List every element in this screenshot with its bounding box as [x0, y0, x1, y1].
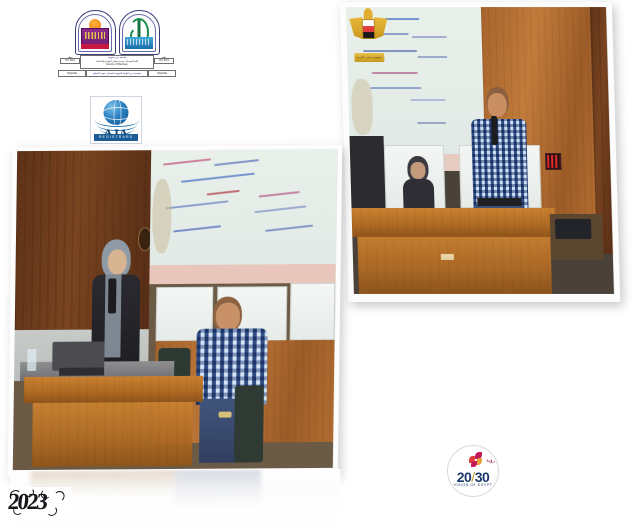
microphone-icon	[108, 278, 117, 313]
accred-bracket-left: ISO 9001	[60, 59, 80, 62]
eagle-wing-right-icon	[374, 17, 388, 39]
digital-clock	[545, 153, 562, 169]
seated-man-face	[216, 303, 240, 331]
accred-bracket-right: ISO 9001	[154, 59, 174, 62]
panel-table-front	[358, 237, 552, 294]
pharmacy-shield-icon	[119, 10, 160, 55]
table-handle	[441, 254, 454, 260]
av-device	[555, 219, 592, 239]
faculty-accreditation-logo: جامعة بني سويف كلية الصيدلة - وحدة ضمان …	[58, 8, 176, 84]
vision-caption: VISION OF EGYPT	[448, 483, 498, 487]
water-glass	[27, 349, 37, 371]
lectern-front	[32, 402, 193, 467]
speaker-belt	[477, 198, 521, 207]
red-strip	[81, 44, 109, 49]
egypt-eagle-emblem: جمهورية مصر العربية	[348, 6, 390, 64]
accred-footer-center: معتمدة من الهيئة القومية لضمان جودة التع…	[86, 72, 148, 75]
aja-subtitle: REGISTRARS	[94, 134, 138, 141]
speaker-face	[488, 93, 507, 117]
speaker-face	[107, 249, 127, 275]
lectern-top-edge	[23, 376, 203, 403]
accreditation-shields	[72, 10, 162, 55]
microphone-icon	[491, 116, 499, 145]
photo-seminar-female-speaker	[8, 145, 343, 477]
whiteboard-3	[290, 283, 336, 341]
year-text: 2023	[7, 489, 48, 514]
accred-caption-en: Faculty of Pharmacy	[81, 63, 153, 66]
projection-screen	[150, 149, 338, 284]
accreditation-band: جامعة بني سويف كلية الصيدلة - وحدة ضمان …	[58, 54, 176, 84]
eagle-scroll-text: جمهورية مصر العربية	[354, 53, 384, 62]
dark-board	[350, 136, 386, 216]
eagle-wing-left-icon	[349, 17, 363, 39]
university-shield-icon	[75, 10, 116, 55]
photo-seminar-male-speaker: جمهورية مصر العربية	[340, 2, 620, 302]
year-calligraphy: 2023	[6, 487, 71, 517]
wristwatch	[218, 411, 231, 417]
seated-person-face	[411, 162, 426, 179]
vision-flower-icon	[467, 452, 485, 467]
panel-table-top	[352, 208, 556, 237]
accred-footer-left: NAQAAE	[58, 72, 86, 75]
slide-canvas: جامعة بني سويف كلية الصيدلة - وحدة ضمان …	[0, 0, 642, 529]
laptop-base	[59, 367, 104, 375]
accred-footer-right: NAQAAE	[148, 72, 176, 75]
eagle-flag-shield-icon	[362, 19, 376, 39]
chair-side	[234, 385, 264, 462]
aja-registrars-logo: AJA REGISTRARS	[90, 96, 142, 144]
egypt-vision-2030-logo: رؤية 20/30 VISION OF EGYPT	[447, 445, 499, 497]
vision-arabic-text: رؤية	[486, 458, 495, 464]
blue-base	[125, 37, 153, 49]
